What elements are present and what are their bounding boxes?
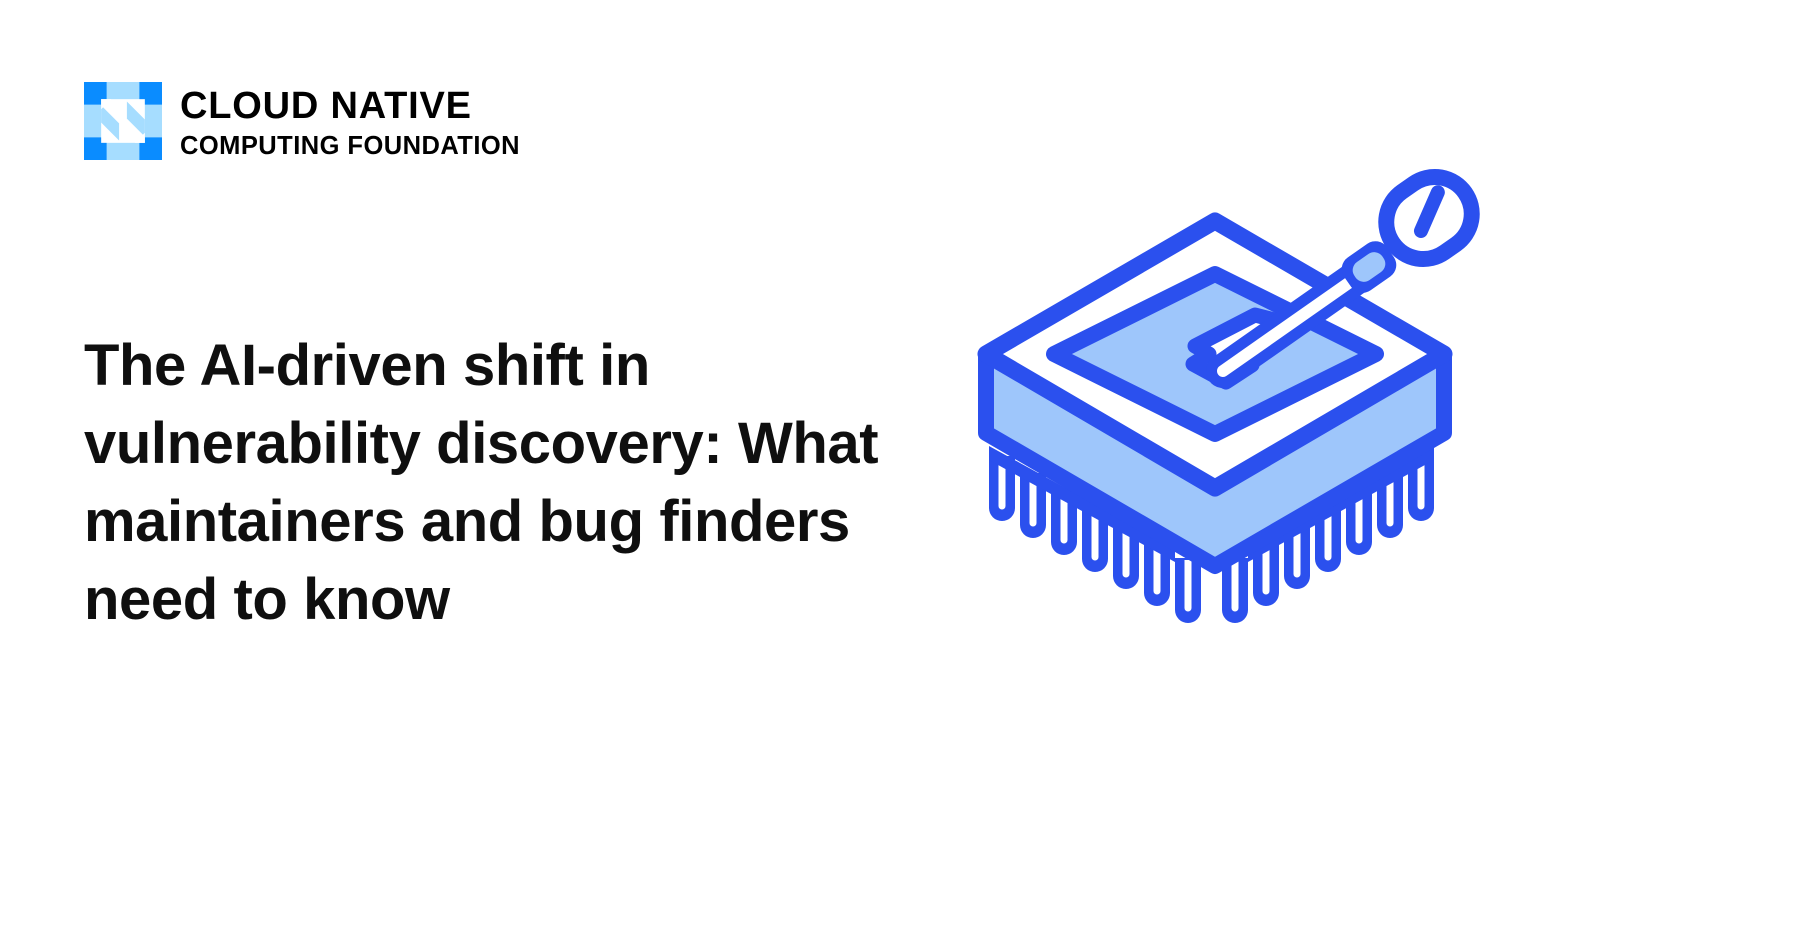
chip-and-screwdriver-illustration (980, 158, 1450, 638)
cncf-logo-line-2: COMPUTING FOUNDATION (180, 134, 520, 160)
cncf-logo-wordmark: CLOUD NATIVE COMPUTING FOUNDATION (180, 82, 520, 160)
banner-canvas: CLOUD NATIVE COMPUTING FOUNDATION The AI… (0, 0, 1800, 945)
cncf-logo-line-1: CLOUD NATIVE (180, 87, 520, 125)
page-title: The AI-driven shift in vulnerability dis… (84, 327, 914, 639)
cncf-logo[interactable]: CLOUD NATIVE COMPUTING FOUNDATION (84, 82, 520, 160)
cncf-mark-icon (84, 82, 162, 160)
